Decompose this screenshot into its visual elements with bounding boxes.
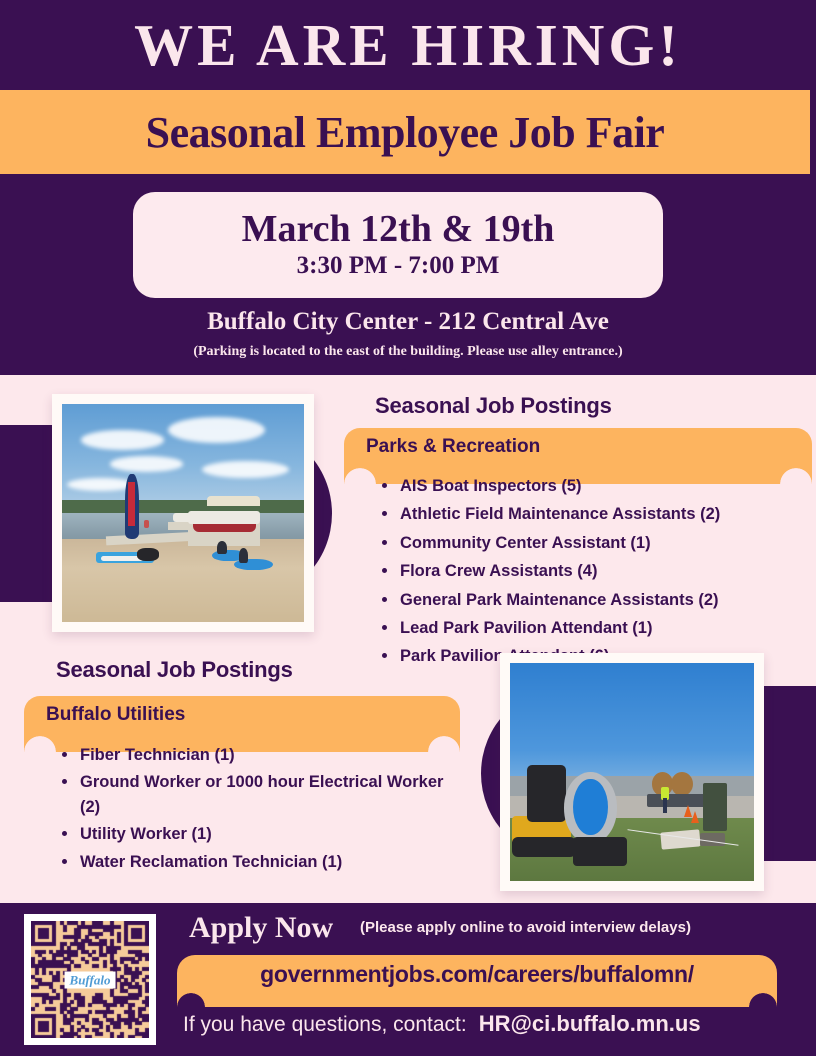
cable-spool	[671, 772, 693, 796]
event-time: 3:30 PM - 7:00 PM	[297, 252, 500, 280]
skid-steer-track	[512, 837, 575, 857]
qr-code-matrix[interactable]: Buffalo	[31, 921, 149, 1038]
flyer-page: WE ARE HIRING! Seasonal Employee Job Fai…	[0, 0, 816, 1056]
event-date-card: March 12th & 19th 3:30 PM - 7:00 PM	[133, 192, 663, 298]
apply-online-note: (Please apply online to avoid interview …	[360, 919, 691, 936]
questions-label: If you have questions, contact:	[183, 1013, 467, 1037]
attachment-base	[573, 837, 627, 865]
cloud	[110, 456, 183, 471]
cable-reel-blue	[573, 779, 607, 836]
list-item: Ground Worker or 1000 hour Electrical Wo…	[58, 770, 458, 819]
boat-hull	[193, 524, 256, 532]
utility-fiber-crew-photo	[510, 663, 754, 881]
list-item: Utility Worker (1)	[58, 822, 458, 846]
lake-photo-frame	[52, 394, 314, 632]
qr-code[interactable]: Buffalo	[24, 914, 156, 1045]
utility-cabinet	[703, 783, 727, 831]
parking-note: (Parking is located to the east of the b…	[0, 344, 816, 360]
kayak-paddler	[239, 548, 249, 563]
hiring-headline: WE ARE HIRING!	[0, 0, 816, 90]
parks-category-label: Parks & Recreation	[344, 428, 540, 458]
buffalo-logo: Buffalo	[65, 971, 116, 988]
flatbed-truck	[647, 794, 706, 807]
job-fair-subtitle: Seasonal Employee Job Fair	[146, 107, 665, 158]
contact-row: If you have questions, contact: HR@ci.bu…	[183, 1011, 701, 1037]
cloud	[81, 430, 163, 450]
gear-bag	[137, 548, 159, 561]
list-item: Community Center Assistant (1)	[378, 531, 808, 555]
list-item: Athletic Field Maintenance Assistants (2…	[378, 502, 808, 526]
cloud	[202, 461, 289, 478]
traffic-cone	[691, 811, 699, 823]
skid-steer-cab	[527, 765, 566, 822]
parks-job-list: AIS Boat Inspectors (5) Athletic Field M…	[378, 474, 808, 673]
kayak-paddler	[217, 541, 227, 554]
boat-canopy	[207, 496, 260, 507]
parks-section-title: Seasonal Job Postings	[375, 393, 612, 419]
utilities-job-list: Fiber Technician (1) Ground Worker or 10…	[58, 743, 458, 877]
cloud	[67, 478, 135, 491]
list-item: AIS Boat Inspectors (5)	[378, 474, 808, 498]
lake-beach-dock-photo	[62, 404, 304, 622]
event-venue: Buffalo City Center - 212 Central Ave	[0, 308, 816, 336]
channel-marker	[144, 520, 149, 529]
list-item: General Park Maintenance Assistants (2)	[378, 588, 808, 612]
utilities-category-label: Buffalo Utilities	[24, 696, 185, 726]
utilities-category-banner: Buffalo Utilities	[24, 696, 460, 736]
list-item: Fiber Technician (1)	[58, 743, 458, 767]
list-item: Lead Park Pavilion Attendant (1)	[378, 616, 808, 640]
event-dates: March 12th & 19th	[242, 210, 555, 250]
list-item: Water Reclamation Technician (1)	[58, 850, 458, 874]
apply-now-heading: Apply Now	[189, 911, 333, 945]
feather-flag-text	[128, 482, 135, 526]
utilities-section-title: Seasonal Job Postings	[56, 657, 293, 683]
worker-legs	[663, 798, 667, 813]
utility-photo-frame	[500, 653, 764, 891]
apply-url[interactable]: governmentjobs.com/careers/buffalomn/	[260, 961, 694, 988]
list-item: Flora Crew Assistants (4)	[378, 559, 808, 583]
parks-category-banner: Parks & Recreation	[344, 428, 812, 468]
subtitle-band: Seasonal Employee Job Fair	[0, 90, 810, 174]
pontoon-boat	[173, 513, 202, 522]
apply-url-banner[interactable]: governmentjobs.com/careers/buffalomn/	[177, 955, 777, 993]
hr-email[interactable]: HR@ci.buffalo.mn.us	[479, 1011, 701, 1037]
